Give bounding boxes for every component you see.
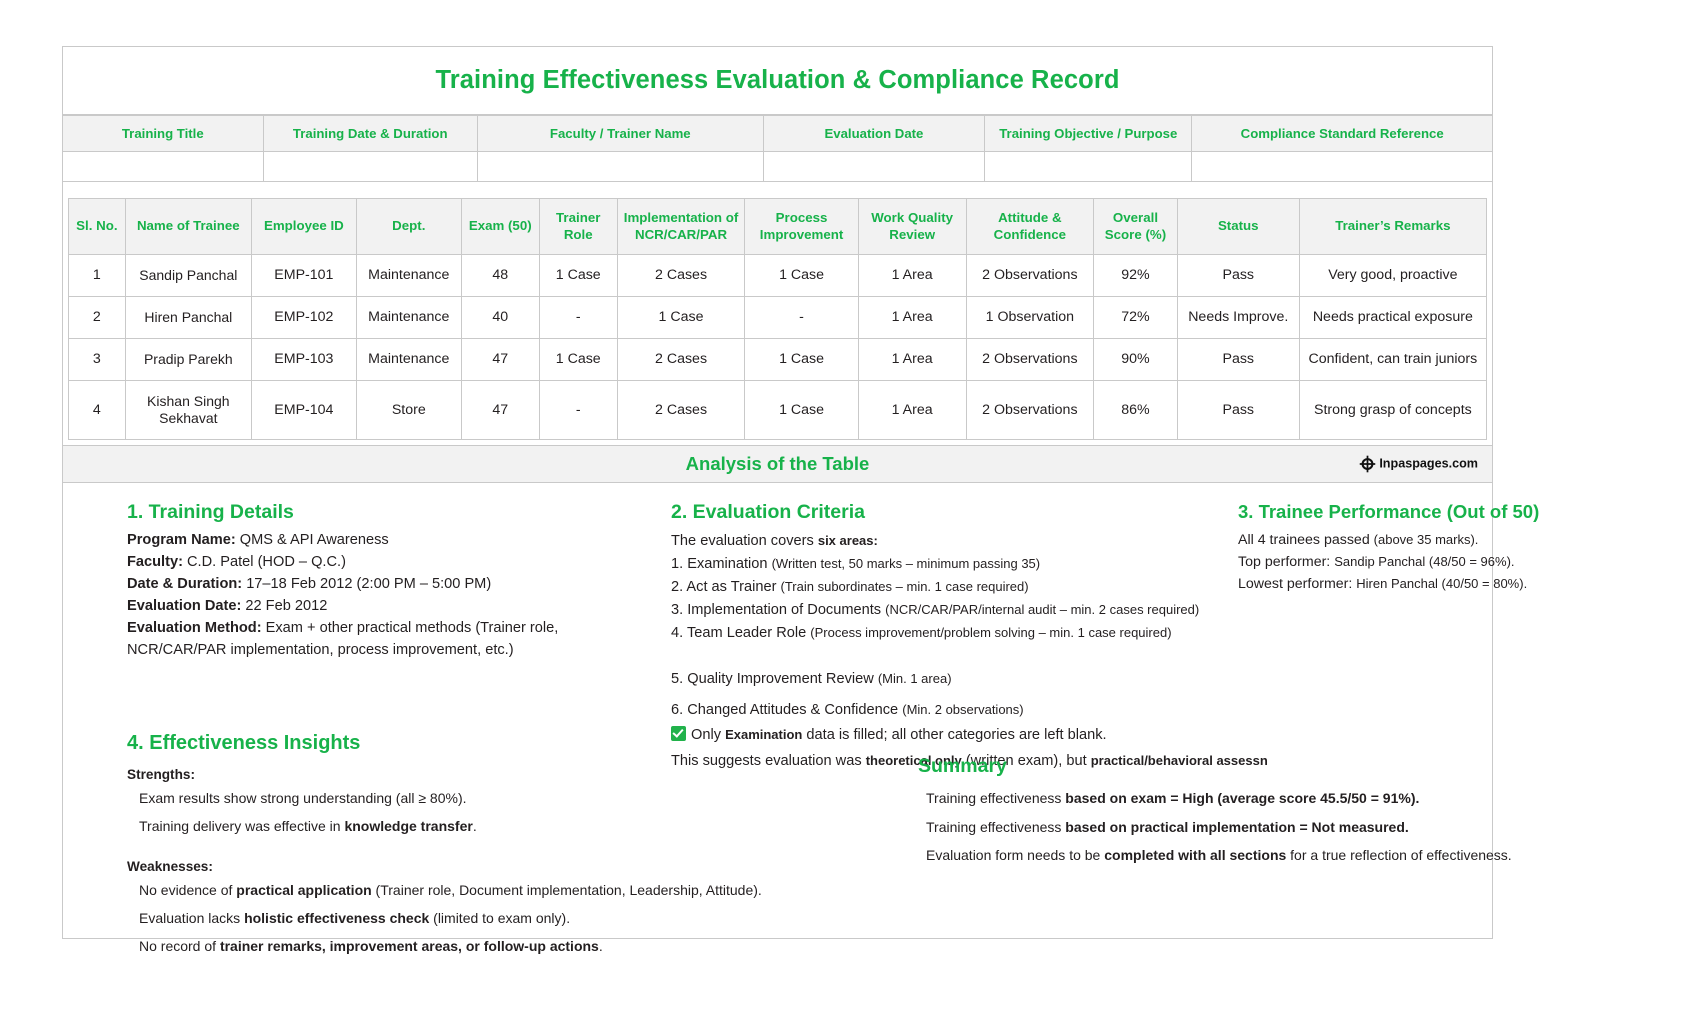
summary-heading: Summary [918, 755, 1558, 778]
cell-overall-score: 90% [1094, 339, 1178, 381]
training-evaluation-date-label: Evaluation Date: [127, 598, 241, 614]
col-header-exam: Exam (50) [461, 199, 539, 255]
performance-line-3-sub: Hiren Panchal (40/50 = 80%). [1356, 576, 1527, 591]
cell-exam: 47 [461, 381, 539, 440]
strength-item-2: Training delivery was effective in knowl… [139, 816, 867, 836]
performance-line-3: Lowest performer: Hiren Panchal (40/50 =… [1238, 573, 1558, 595]
cell-exam: 47 [461, 339, 539, 381]
cell-remarks: Needs practical exposure [1299, 297, 1486, 339]
brand-label: Inpaspages.com [1379, 457, 1478, 471]
cell-process-improvement: 1 Case [745, 381, 858, 440]
weakness-item-2-c: (limited to exam only). [429, 910, 570, 926]
cell-employee-id: EMP-102 [251, 297, 356, 339]
meta-header-faculty: Faculty / Trainer Name [477, 116, 763, 152]
col-header-trainer-role: Trainer Role [539, 199, 617, 255]
table-spacer [63, 182, 1492, 198]
trainee-evaluation-table: Sl. No. Name of Trainee Employee ID Dept… [68, 198, 1487, 440]
cell-remarks: Very good, proactive [1299, 255, 1486, 297]
table-row: 2 Hiren Panchal EMP-102 Maintenance 40 -… [69, 297, 1487, 339]
summary-item-1: Training effectiveness based on exam = H… [926, 788, 1558, 808]
trainee-table-wrap: Sl. No. Name of Trainee Employee ID Dept… [63, 198, 1492, 440]
training-program-name-value: QMS & API Awareness [236, 532, 389, 548]
criteria-item-5-sub: (Min. 1 area) [878, 671, 952, 686]
col-header-implementation: Implementation of NCR/CAR/PAR [617, 199, 745, 255]
criteria-item-3-main: 3. Implementation of Documents [671, 602, 885, 618]
training-faculty-value: C.D. Patel (HOD – Q.C.) [183, 554, 346, 570]
criteria-item-6-main: 6. Changed Attitudes & Confidence [671, 702, 902, 718]
cell-dept: Store [356, 381, 461, 440]
training-faculty-label: Faculty: [127, 554, 183, 570]
cell-implementation: 2 Cases [617, 381, 745, 440]
section-effectiveness-insights: 4. Effectiveness Insights Strengths: Exa… [127, 731, 867, 964]
cell-overall-score: 86% [1094, 381, 1178, 440]
meta-value-evaluation-date[interactable] [763, 152, 984, 182]
col-header-overall-score: Overall Score (%) [1094, 199, 1178, 255]
criteria-item-3-sub: (NCR/CAR/PAR/internal audit – min. 2 cas… [885, 602, 1199, 617]
cell-process-improvement: 1 Case [745, 339, 858, 381]
meta-header-evaluation-date: Evaluation Date [763, 116, 984, 152]
cell-sl-no: 4 [69, 381, 126, 440]
meta-value-training-title[interactable] [63, 152, 263, 182]
table-row: 1 Sandip Panchal EMP-101 Maintenance 48 … [69, 255, 1487, 297]
summary-item-1-b: based on exam = High (average score 45.5… [1065, 790, 1419, 806]
cell-name: Sandip Panchal [125, 255, 251, 297]
cell-trainer-role: 1 Case [539, 339, 617, 381]
weakness-item-2-a: Evaluation lacks [139, 910, 244, 926]
section3-heading: 3. Trainee Performance (Out of 50) [1238, 501, 1558, 523]
section4-heading: 4. Effectiveness Insights [127, 731, 867, 755]
weakness-item-3-b: trainer remarks, improvement areas, or f… [220, 938, 599, 954]
meta-value-row [63, 152, 1492, 182]
col-header-process-improvement: Process Improvement [745, 199, 858, 255]
cell-implementation: 1 Case [617, 297, 745, 339]
analysis-banner: Analysis of the Table Inpaspages.com [63, 445, 1492, 483]
summary-item-2-a: Training effectiveness [926, 819, 1065, 835]
cell-attitude: 2 Observations [966, 339, 1094, 381]
training-evaluation-date-row: Evaluation Date: 22 Feb 2012 [127, 596, 647, 618]
summary-item-2: Training effectiveness based on practica… [926, 817, 1558, 837]
cell-implementation: 2 Cases [617, 339, 745, 381]
training-evaluation-method-label: Evaluation Method: [127, 620, 262, 636]
table-row: 4 Kishan Singh Sekhavat EMP-104 Store 47… [69, 381, 1487, 440]
cell-trainer-role: - [539, 297, 617, 339]
col-header-status: Status [1177, 199, 1299, 255]
cell-dept: Maintenance [356, 255, 461, 297]
meta-header-compliance-standard: Compliance Standard Reference [1192, 116, 1492, 152]
criteria-item-1-main: 1. Examination [671, 556, 772, 572]
cell-attitude: 1 Observation [966, 297, 1094, 339]
cell-exam: 48 [461, 255, 539, 297]
cell-trainer-role: - [539, 381, 617, 440]
cell-work-quality: 1 Area [858, 381, 966, 440]
performance-line-2: Top performer: Sandip Panchal (48/50 = 9… [1238, 551, 1558, 573]
col-header-employee-id: Employee ID [251, 199, 356, 255]
criteria-item-4-sub: (Process improvement/problem solving – m… [810, 625, 1171, 640]
cell-remarks: Strong grasp of concepts [1299, 381, 1486, 440]
cell-exam: 40 [461, 297, 539, 339]
weakness-item-3: No record of trainer remarks, improvemen… [139, 936, 867, 956]
section-training-details: 1. Training Details Program Name: QMS & … [127, 501, 647, 662]
analysis-body: 1. Training Details Program Name: QMS & … [63, 483, 1492, 938]
inpaspages-logo-icon [1358, 454, 1377, 473]
criteria-item-5: 5. Quality Improvement Review (Min. 1 ar… [671, 668, 1231, 691]
weakness-item-1-c: (Trainer role, Document implementation, … [372, 882, 762, 898]
meta-header-objective: Training Objective / Purpose [985, 116, 1192, 152]
section-trainee-performance: 3. Trainee Performance (Out of 50) All 4… [1238, 501, 1558, 595]
meta-header-row: Training Title Training Date & Duration … [63, 116, 1492, 152]
weakness-item-2-b: holistic effectiveness check [244, 910, 429, 926]
training-evaluation-method-row: Evaluation Method: Exam + other practica… [127, 618, 647, 640]
trainee-header-row: Sl. No. Name of Trainee Employee ID Dept… [69, 199, 1487, 255]
meta-value-faculty[interactable] [477, 152, 763, 182]
performance-line-2-sub: Sandip Panchal (48/50 = 96%). [1334, 554, 1514, 569]
cell-work-quality: 1 Area [858, 255, 966, 297]
section1-heading: 1. Training Details [127, 501, 647, 524]
strength-item-1-a: Exam results show strong understanding (… [139, 790, 467, 806]
weakness-item-3-a: No record of [139, 938, 220, 954]
criteria-item-1: 1. Examination (Written test, 50 marks –… [671, 553, 1231, 576]
weaknesses-label: Weaknesses: [127, 859, 867, 874]
summary-item-3: Evaluation form needs to be completed wi… [926, 845, 1558, 865]
criteria-item-2-main: 2. Act as Trainer [671, 579, 781, 595]
col-header-dept: Dept. [356, 199, 461, 255]
meta-header-date-duration: Training Date & Duration [263, 116, 477, 152]
training-program-name-label: Program Name: [127, 532, 236, 548]
col-header-attitude-confidence: Attitude & Confidence [966, 199, 1094, 255]
criteria-item-6: 6. Changed Attitudes & Confidence (Min. … [671, 699, 1231, 722]
criteria-item-1-sub: (Written test, 50 marks – minimum passin… [772, 556, 1041, 571]
cell-work-quality: 1 Area [858, 297, 966, 339]
cell-dept: Maintenance [356, 339, 461, 381]
training-evaluation-method-value: Exam + other practical methods (Trainer … [262, 620, 559, 636]
weakness-item-3-c: . [599, 938, 603, 954]
criteria-item-3: 3. Implementation of Documents (NCR/CAR/… [671, 599, 1231, 622]
analysis-banner-label: Analysis of the Table [686, 453, 870, 474]
cell-process-improvement: 1 Case [745, 255, 858, 297]
cell-employee-id: EMP-103 [251, 339, 356, 381]
cell-implementation: 2 Cases [617, 255, 745, 297]
criteria-intro: The evaluation covers six areas: [671, 530, 1231, 553]
cell-name: Pradip Parekh [125, 339, 251, 381]
col-header-name-of-trainee: Name of Trainee [125, 199, 251, 255]
meta-value-compliance-standard[interactable] [1192, 152, 1492, 182]
criteria-intro-prefix: The evaluation covers [671, 533, 818, 549]
performance-line-1-main: All 4 trainees passed [1238, 532, 1374, 548]
training-faculty-row: Faculty: C.D. Patel (HOD – Q.C.) [127, 552, 647, 574]
weakness-item-2: Evaluation lacks holistic effectiveness … [139, 908, 867, 928]
cell-remarks: Confident, can train juniors [1299, 339, 1486, 381]
cell-attitude: 2 Observations [966, 255, 1094, 297]
criteria-spacer [671, 646, 1231, 668]
col-header-trainer-remarks: Trainer’s Remarks [1299, 199, 1486, 255]
performance-line-1: All 4 trainees passed (above 35 marks). [1238, 529, 1558, 551]
criteria-item-4-main: 4. Team Leader Role [671, 625, 810, 641]
meta-value-objective[interactable] [985, 152, 1192, 182]
training-evaluation-date-value: 22 Feb 2012 [241, 598, 327, 614]
performance-line-1-sub: (above 35 marks). [1374, 532, 1479, 547]
section2-heading: 2. Evaluation Criteria [671, 501, 1231, 524]
cell-overall-score: 92% [1094, 255, 1178, 297]
criteria-item-2-sub: (Train subordinates – min. 1 case requir… [781, 579, 1029, 594]
col-header-work-quality-review: Work Quality Review [858, 199, 966, 255]
performance-line-2-main: Top performer: [1238, 554, 1334, 570]
summary-item-1-a: Training effectiveness [926, 790, 1065, 806]
strength-item-2-a: Training delivery was effective in [139, 818, 344, 834]
weakness-item-1-a: No evidence of [139, 882, 236, 898]
criteria-item-4: 4. Team Leader Role (Process improvement… [671, 622, 1231, 645]
strengths-label: Strengths: [127, 767, 867, 782]
summary-item-3-c: for a true reflection of effectiveness. [1286, 847, 1511, 863]
criteria-item-5-main: 5. Quality Improvement Review [671, 671, 878, 687]
cell-name: Hiren Panchal [125, 297, 251, 339]
page-root: Training Effectiveness Evaluation & Comp… [0, 0, 1684, 1024]
strength-item-2-c: . [473, 818, 477, 834]
summary-item-3-b: completed with all sections [1104, 847, 1286, 863]
criteria-item-6-sub: (Min. 2 observations) [902, 702, 1023, 717]
cell-work-quality: 1 Area [858, 339, 966, 381]
strength-item-1: Exam results show strong understanding (… [139, 788, 867, 808]
training-program-name-row: Program Name: QMS & API Awareness [127, 530, 647, 552]
training-evaluation-method-value-cont: NCR/CAR/PAR implementation, process impr… [127, 640, 647, 662]
cell-employee-id: EMP-104 [251, 381, 356, 440]
summary-item-3-a: Evaluation form needs to be [926, 847, 1104, 863]
document-sheet: Training Effectiveness Evaluation & Comp… [62, 46, 1493, 939]
page-title: Training Effectiveness Evaluation & Comp… [63, 47, 1492, 115]
criteria-item-2: 2. Act as Trainer (Train subordinates – … [671, 576, 1231, 599]
criteria-intro-bold: six areas: [818, 533, 878, 548]
cell-sl-no: 3 [69, 339, 126, 381]
meta-header-training-title: Training Title [63, 116, 263, 152]
cell-dept: Maintenance [356, 297, 461, 339]
performance-line-3-main: Lowest performer: [1238, 576, 1356, 592]
status-badge: Needs Improve. [1177, 297, 1299, 339]
cell-attitude: 2 Observations [966, 381, 1094, 440]
brand-watermark: Inpaspages.com [1358, 454, 1478, 473]
cell-sl-no: 1 [69, 255, 126, 297]
weakness-item-1: No evidence of practical application (Tr… [139, 880, 867, 900]
cell-employee-id: EMP-101 [251, 255, 356, 297]
training-date-duration-row: Date & Duration: 17–18 Feb 2012 (2:00 PM… [127, 574, 647, 596]
cell-trainer-role: 1 Case [539, 255, 617, 297]
training-date-duration-label: Date & Duration: [127, 576, 242, 592]
summary-item-2-b: based on practical implementation = Not … [1065, 819, 1408, 835]
cell-name: Kishan Singh Sekhavat [125, 381, 251, 440]
weakness-item-1-b: practical application [236, 882, 371, 898]
strength-item-2-b: knowledge transfer [344, 818, 472, 834]
training-date-duration-value: 17–18 Feb 2012 (2:00 PM – 5:00 PM) [242, 576, 491, 592]
section-summary: Summary Training effectiveness based on … [918, 755, 1558, 873]
status-badge: Pass [1177, 381, 1299, 440]
trainee-table-body: 1 Sandip Panchal EMP-101 Maintenance 48 … [69, 255, 1487, 440]
col-header-sl-no: Sl. No. [69, 199, 126, 255]
cell-overall-score: 72% [1094, 297, 1178, 339]
training-meta-table: Training Title Training Date & Duration … [63, 115, 1492, 182]
status-badge: Pass [1177, 255, 1299, 297]
cell-sl-no: 2 [69, 297, 126, 339]
table-row: 3 Pradip Parekh EMP-103 Maintenance 47 1… [69, 339, 1487, 381]
cell-process-improvement: - [745, 297, 858, 339]
meta-value-date-duration[interactable] [263, 152, 477, 182]
status-badge: Pass [1177, 339, 1299, 381]
